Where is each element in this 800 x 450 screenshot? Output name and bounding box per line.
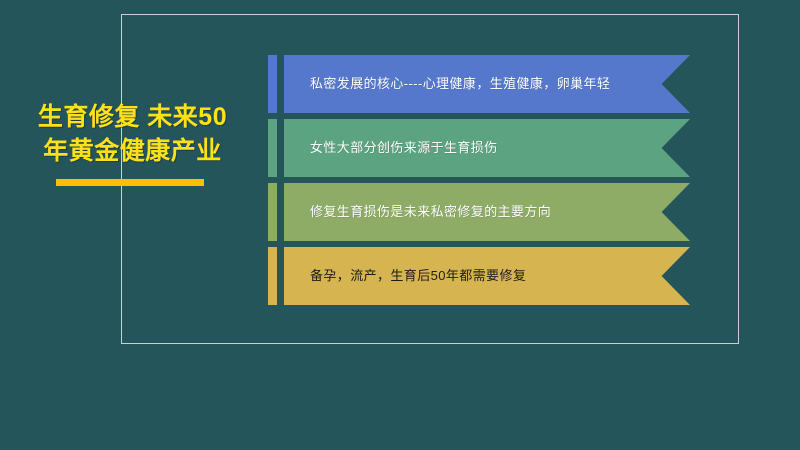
title-block: 生育修复 未来50年黄金健康产业 (30, 100, 235, 186)
slide-canvas: 生育修复 未来50年黄金健康产业 私密发展的核心----心理健康，生殖健康，卵巢… (0, 0, 800, 450)
ribbon-label: 女性大部分创伤来源于生育损伤 (284, 139, 498, 157)
ribbon-label: 私密发展的核心----心理健康，生殖健康，卵巢年轻 (284, 75, 610, 93)
ribbon-tab-marker (268, 55, 277, 113)
ribbon-body: 私密发展的核心----心理健康，生殖健康，卵巢年轻 (284, 55, 690, 113)
ribbon-label: 备孕，流产，生育后50年都需要修复 (284, 267, 526, 285)
ribbon-tab-marker (268, 119, 277, 177)
ribbon-list: 私密发展的核心----心理健康，生殖健康，卵巢年轻 女性大部分创伤来源于生育损伤… (268, 55, 690, 311)
ribbon-tab-marker (268, 183, 277, 241)
page-title: 生育修复 未来50年黄金健康产业 (30, 100, 235, 168)
ribbon-item[interactable]: 私密发展的核心----心理健康，生殖健康，卵巢年轻 (268, 55, 690, 113)
ribbon-body: 修复生育损伤是未来私密修复的主要方向 (284, 183, 690, 241)
ribbon-item[interactable]: 女性大部分创伤来源于生育损伤 (268, 119, 690, 177)
ribbon-tab-marker (268, 247, 277, 305)
ribbon-body: 女性大部分创伤来源于生育损伤 (284, 119, 690, 177)
ribbon-body: 备孕，流产，生育后50年都需要修复 (284, 247, 690, 305)
title-underline-bar (56, 179, 204, 186)
ribbon-item[interactable]: 修复生育损伤是未来私密修复的主要方向 (268, 183, 690, 241)
ribbon-item[interactable]: 备孕，流产，生育后50年都需要修复 (268, 247, 690, 305)
ribbon-label: 修复生育损伤是未来私密修复的主要方向 (284, 203, 551, 221)
